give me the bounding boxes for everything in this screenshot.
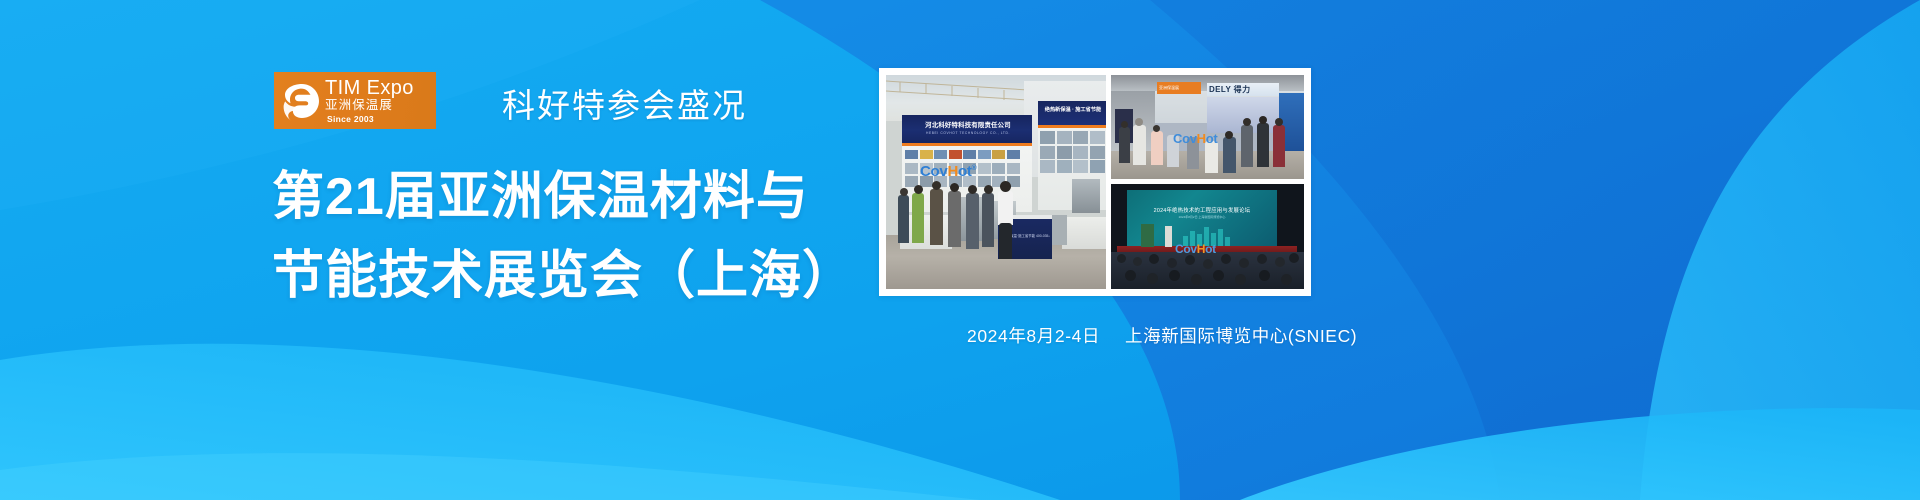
booth-side-banner-text: 绝热新保温 · 施工省节能: [1042, 106, 1104, 113]
visitor-head: [1153, 125, 1160, 132]
audience-head: [1147, 273, 1158, 284]
audience-head: [1275, 257, 1285, 267]
audience-head: [1133, 257, 1142, 266]
potted-plant: [1141, 224, 1154, 247]
visitor: [948, 191, 961, 247]
visitor-legs: [999, 223, 1012, 259]
event-info-line: 2024年8月2-4日 上海新国际博览中心(SNIEC): [967, 323, 1357, 348]
visitor: [1241, 125, 1253, 167]
screen-title: 2024年绝热技术的工程应用与发展论坛: [1133, 206, 1271, 214]
headline-line-2: 节能技术展览会（上海）: [272, 237, 855, 316]
audience-head: [1289, 253, 1299, 263]
audience-head: [1281, 274, 1292, 285]
hero-subtitle: 科好特参会盛况: [502, 79, 747, 127]
visitor: [966, 193, 979, 249]
logo-since: Since 2003: [325, 115, 414, 124]
tim-expo-logo[interactable]: TIM Expo 亚洲保温展 Since 2003: [274, 72, 436, 129]
visitor-head: [1135, 118, 1143, 126]
logo-brand-cn: 亚洲保温展: [325, 99, 414, 112]
headline-line-1: 第21届亚洲保温材料与: [272, 158, 855, 237]
visitor-head: [1121, 121, 1128, 128]
audience-head: [1257, 254, 1267, 264]
booth-side-banner: [1038, 101, 1106, 127]
collage-right-column: 亚洲保温展 DELY 得力: [1111, 75, 1304, 289]
expo-banner: TIM Expo 亚洲保温展 Since 2003 科好特参会盛况 第21届亚洲…: [0, 0, 1920, 500]
visitor-head: [1259, 116, 1267, 124]
visitor: [982, 193, 994, 247]
hero-headline: 第21届亚洲保温材料与 节能技术展览会（上海）: [272, 158, 855, 316]
audience-head: [1125, 270, 1136, 281]
visitor: [998, 191, 1013, 225]
visitor: [1119, 127, 1130, 163]
speaker-figure: [1165, 226, 1172, 247]
audience-head: [1117, 254, 1126, 263]
audience-head: [1169, 270, 1180, 281]
visitor: [898, 195, 909, 243]
visitor-head: [1243, 118, 1251, 126]
aisle-watermark: CovHot: [1173, 131, 1217, 146]
logo-text-block: TIM Expo 亚洲保温展 Since 2003: [325, 78, 414, 123]
visitor: [1223, 137, 1236, 173]
visitor-head: [900, 188, 908, 196]
forum-watermark: CovHot: [1175, 242, 1216, 256]
logo-brand-en: TIM Expo: [325, 78, 414, 98]
audience-head: [1203, 259, 1213, 269]
visitor: [1151, 131, 1163, 165]
forum-photo: 2024年绝热技术的工程应用与发展论坛 2024年8月2日 上海新国际博览中心: [1111, 184, 1304, 289]
visitor-head: [1225, 131, 1233, 139]
equipment-unit-3: [1072, 179, 1100, 213]
audience-head: [1259, 270, 1270, 281]
audience-head: [1167, 258, 1177, 268]
event-venue: 上海新国际博览中心(SNIEC): [1125, 326, 1357, 346]
visitor-head: [932, 181, 941, 190]
visitor-head: [968, 185, 977, 194]
audience-head: [1239, 258, 1249, 268]
visitor-head: [1000, 181, 1011, 192]
photo-collage: 河北科好特科技有限责任公司 HEBEI COVHOT TECHNOLOGY CO…: [879, 68, 1311, 296]
dely-signboard-text: DELY 得力: [1209, 84, 1277, 95]
visitor: [912, 193, 924, 243]
visitor: [1133, 125, 1146, 165]
booth-banner-cn: 河北科好特科技有限责任公司: [908, 120, 1028, 129]
chair: [1050, 215, 1067, 245]
audience-head: [1191, 274, 1202, 285]
audience-head: [1221, 254, 1231, 264]
visitor-head: [984, 185, 993, 194]
audience-head: [1149, 254, 1159, 264]
visitor: [1273, 125, 1285, 167]
audience-head: [1213, 270, 1224, 281]
display-table-right: [1062, 217, 1106, 249]
visitor: [1257, 123, 1269, 167]
booth-photo: 河北科好特科技有限责任公司 HEBEI COVHOT TECHNOLOGY CO…: [886, 75, 1106, 289]
booth-banner-en: HEBEI COVHOT TECHNOLOGY CO., LTD.: [908, 131, 1028, 135]
aisle-photo: 亚洲保温展 DELY 得力: [1111, 75, 1304, 179]
audience-head: [1185, 255, 1195, 265]
visitor-head: [950, 183, 959, 192]
audience-head: [1235, 274, 1246, 285]
event-date: 2024年8月2-4日: [967, 326, 1100, 346]
visitor-head: [914, 185, 923, 194]
screen-subtitle: 2024年8月2日 上海新国际博览中心: [1133, 215, 1271, 219]
orange-signboard-text: 亚洲保温展: [1159, 85, 1199, 91]
visitor: [930, 189, 943, 245]
yin-yang-swoosh-icon: [282, 81, 322, 121]
visitor-head: [1275, 118, 1283, 126]
booth-watermark: CovHot®: [920, 163, 976, 180]
